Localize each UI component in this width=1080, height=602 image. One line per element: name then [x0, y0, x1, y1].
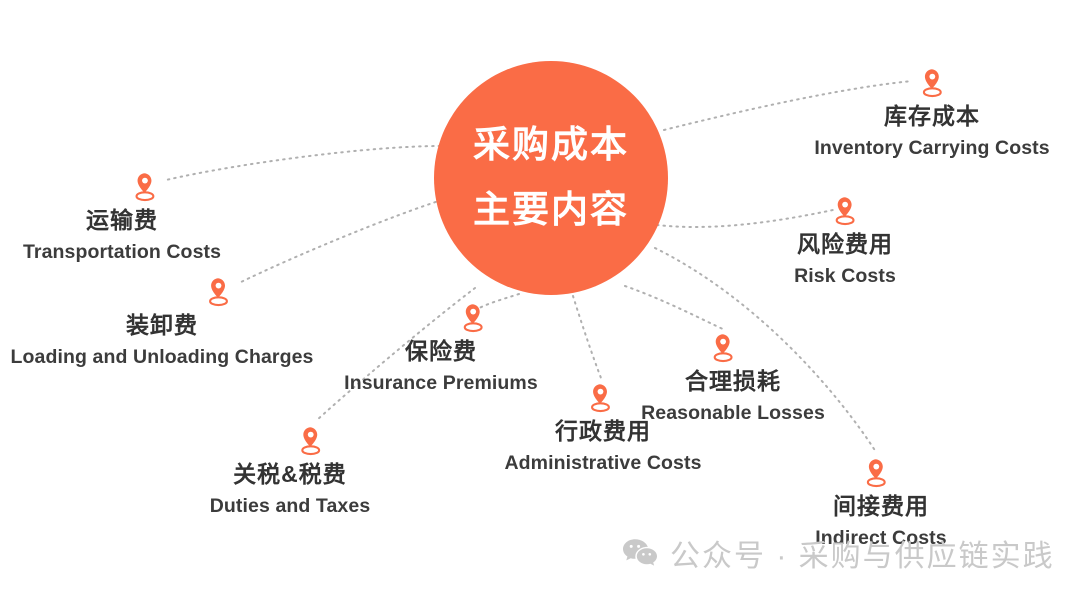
to-loading-unloading-charges	[239, 198, 448, 283]
map-pin-icon	[832, 196, 858, 226]
map-pin-icon	[919, 68, 945, 98]
node-subtitle: Transportation Costs	[23, 240, 221, 264]
node-title: 运输费	[86, 206, 158, 235]
node-label-group: 合理损耗Reasonable Losses	[641, 363, 825, 425]
node-risk-costs[interactable]: 风险费用Risk Costs	[794, 196, 896, 288]
node-reasonable-losses[interactable]: 合理损耗Reasonable Losses	[631, 333, 815, 425]
map-pin-icon	[863, 458, 889, 488]
node-insurance-premiums[interactable]: 保险费Insurance Premiums	[376, 303, 570, 395]
infographic-canvas: 采购成本 主要内容 库存成本Inventory Carrying Costs风险…	[0, 0, 1080, 602]
node-subtitle: Risk Costs	[794, 264, 896, 288]
node-title: 间接费用	[833, 492, 929, 521]
to-reasonable-losses	[625, 286, 725, 330]
hub-title-line1: 采购成本	[473, 126, 629, 165]
node-title: 库存成本	[884, 102, 980, 131]
node-title: 装卸费	[126, 311, 198, 340]
node-label-group: 关税&税费Duties and Taxes	[210, 456, 371, 518]
node-duties-and-taxes[interactable]: 关税&税费Duties and Taxes	[231, 426, 392, 518]
map-pin-icon	[132, 172, 158, 202]
node-transportation-costs[interactable]: 运输费Transportation Costs	[46, 172, 244, 264]
node-loading-unloading-charges[interactable]: 装卸费Loading and Unloading Charges	[67, 277, 370, 369]
hub-title-line2: 主要内容	[473, 191, 629, 230]
node-inventory-carrying-costs[interactable]: 库存成本Inventory Carrying Costs	[814, 68, 1049, 160]
map-pin-icon	[460, 303, 486, 333]
map-pin-icon	[710, 333, 736, 363]
to-administrative-costs	[573, 296, 601, 378]
map-pin-icon	[587, 383, 613, 413]
central-hub: 采购成本 主要内容	[434, 61, 668, 295]
watermark: 公众号 · 采购与供应链实践	[622, 538, 1055, 576]
node-label-group: 运输费Transportation Costs	[23, 202, 221, 264]
node-title: 合理损耗	[685, 367, 781, 396]
watermark-text: 公众号 · 采购与供应链实践	[670, 542, 1055, 572]
node-subtitle: Loading and Unloading Charges	[11, 345, 314, 369]
node-indirect-costs[interactable]: 间接费用Indirect Costs	[810, 458, 941, 550]
wechat-icon	[622, 538, 658, 576]
node-label-group: 装卸费Loading and Unloading Charges	[11, 307, 314, 369]
node-subtitle: Reasonable Losses	[641, 401, 825, 425]
node-label-group: 风险费用Risk Costs	[794, 226, 896, 288]
node-title: 关税&税费	[233, 460, 347, 489]
node-subtitle: Inventory Carrying Costs	[814, 136, 1049, 160]
node-title: 风险费用	[797, 230, 893, 259]
map-pin-icon	[298, 426, 324, 456]
node-title: 保险费	[405, 337, 477, 366]
map-pin-icon	[205, 277, 231, 307]
node-subtitle: Duties and Taxes	[210, 494, 371, 518]
node-subtitle: Administrative Costs	[504, 451, 701, 475]
node-label-group: 库存成本Inventory Carrying Costs	[814, 98, 1049, 160]
